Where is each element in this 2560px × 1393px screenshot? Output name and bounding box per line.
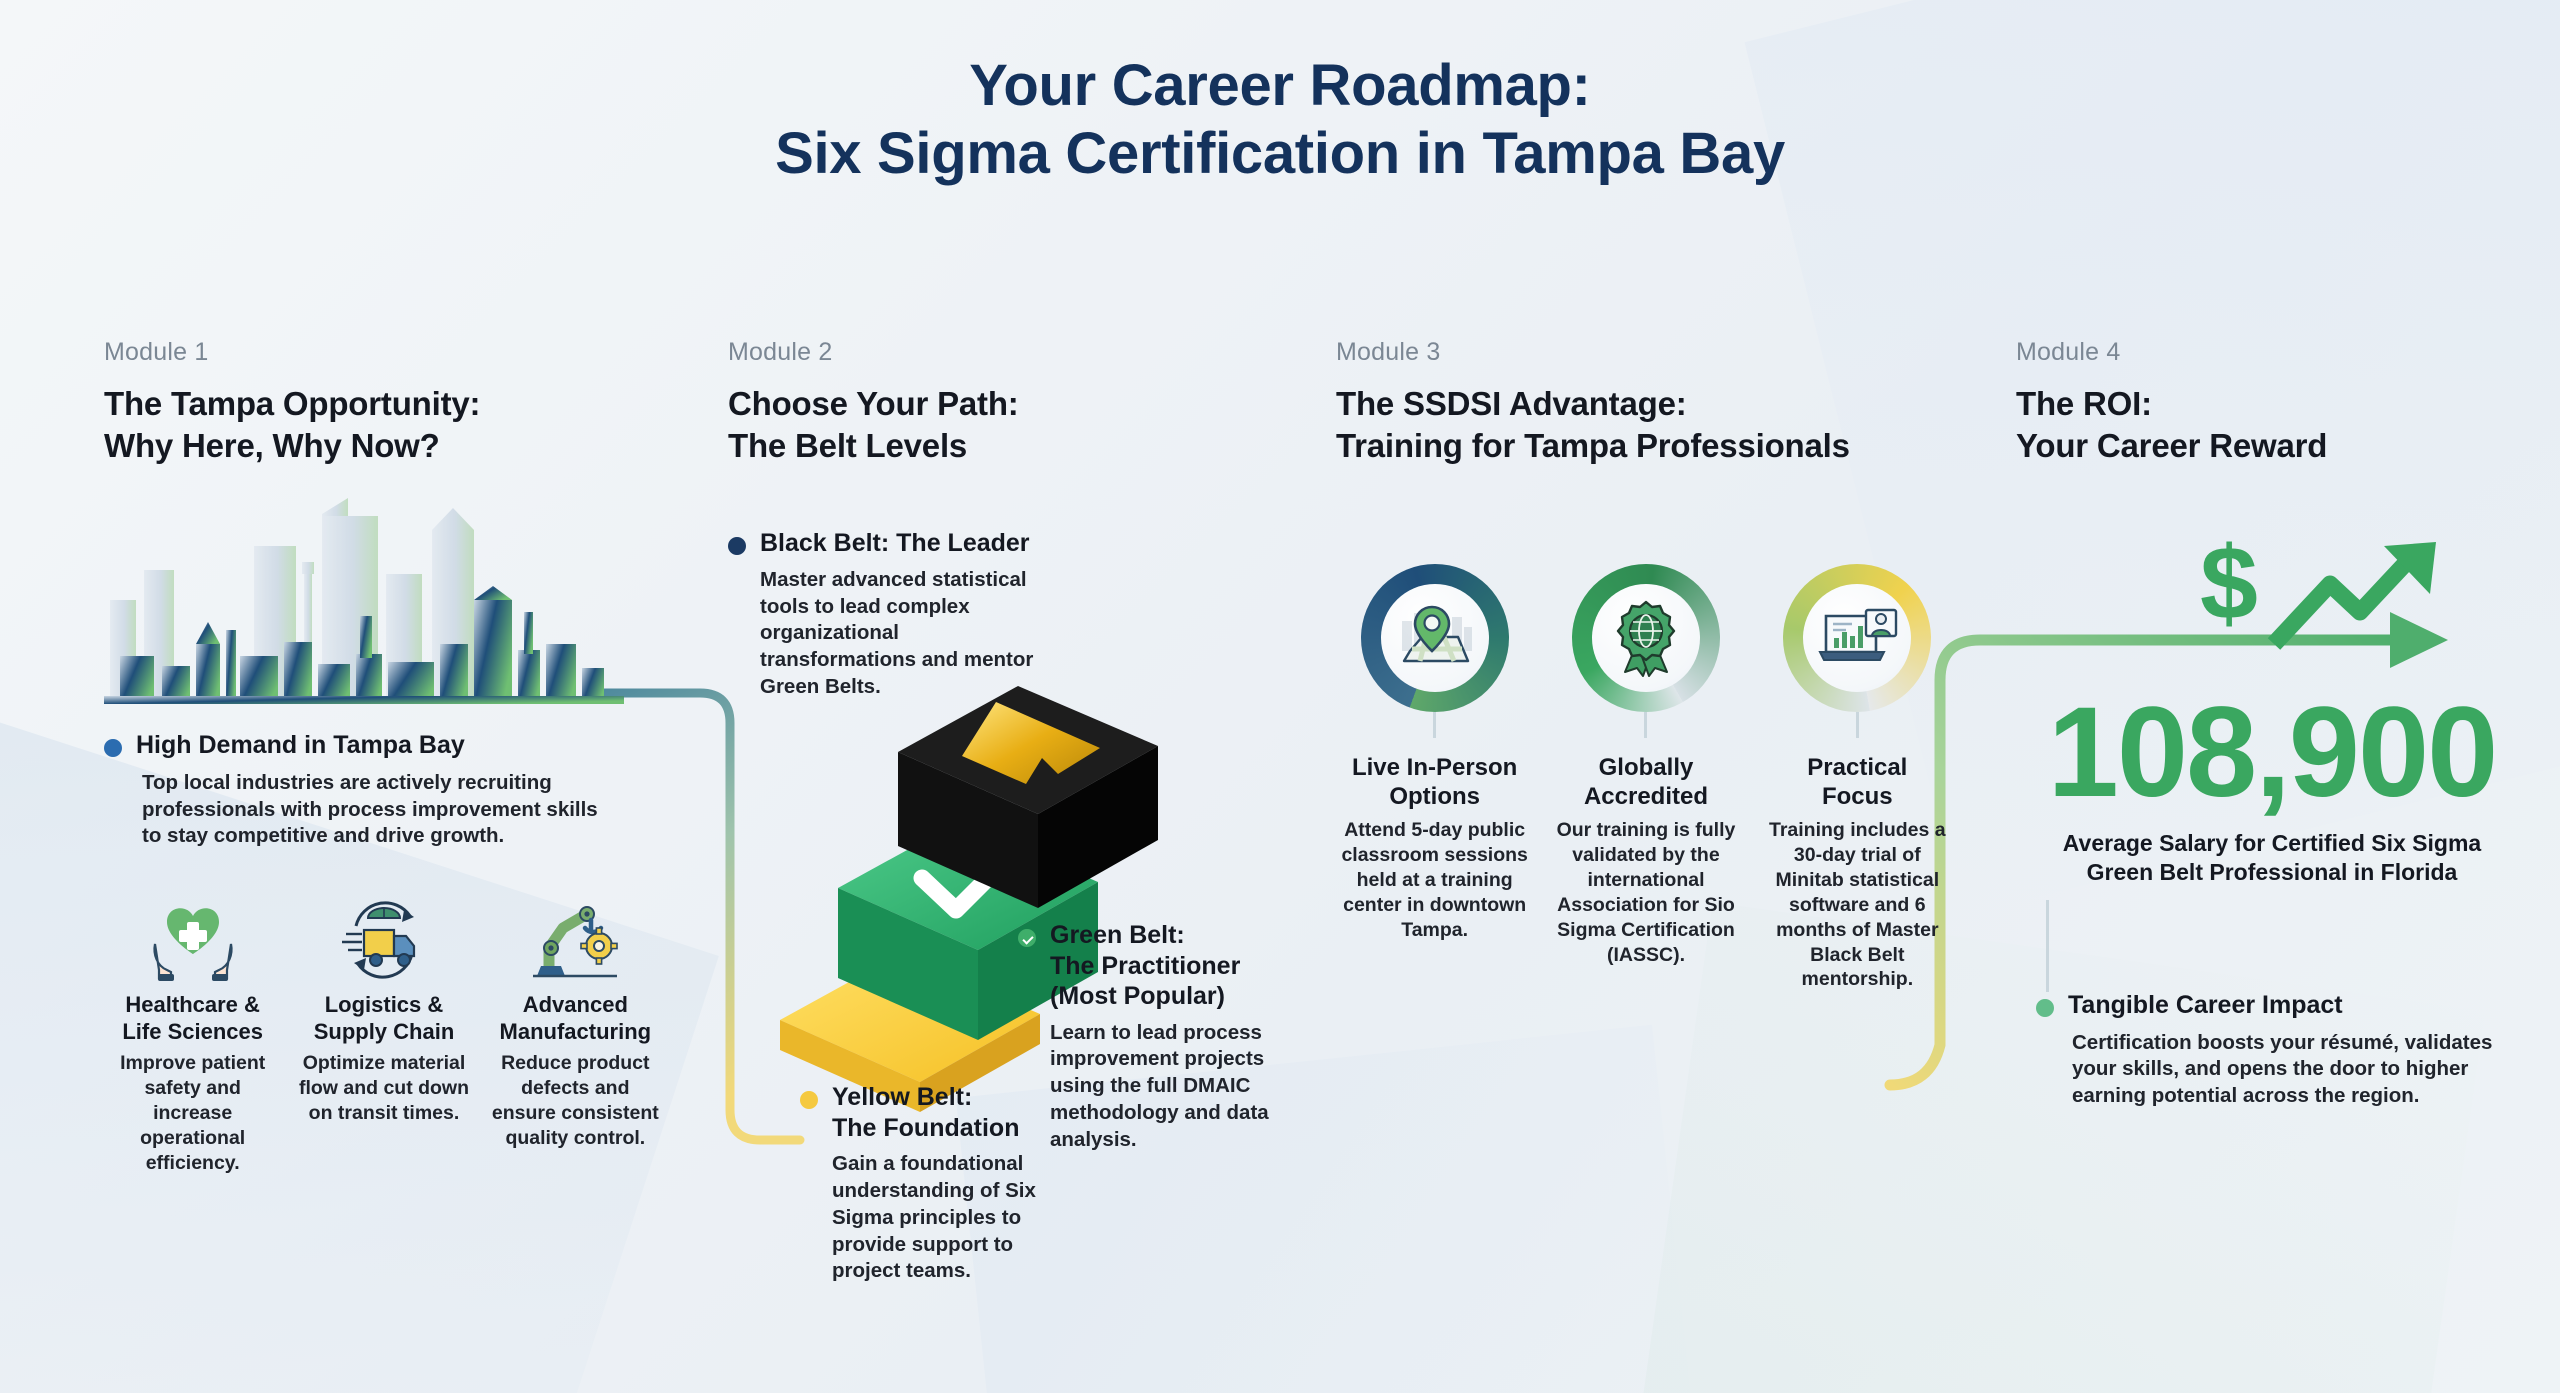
green-belt-heading-line1: Green Belt: [1050, 921, 1185, 949]
feature-heading-line2: Accredited [1584, 783, 1708, 810]
green-belt-heading-line2: The Practitioner [1050, 952, 1240, 980]
module-4-title-line2: Your Career Reward [2016, 425, 2516, 467]
module-4-stem [2046, 900, 2049, 992]
growth-arrow-icon [2268, 540, 2468, 650]
feature-heading: Practical Focus [1759, 754, 1956, 812]
industry-heading-line1: Logistics & [325, 992, 444, 1017]
feature-caption: Practical Focus Training includes a 30-d… [1759, 746, 1956, 992]
module-3-title: The SSDSI Advantage: Training for Tampa … [1336, 383, 1996, 466]
feature-heading-line1: Globally [1599, 754, 1694, 781]
industry-heading-line2: Supply Chain [314, 1019, 455, 1044]
ssdsi-features-rings [1336, 564, 1956, 738]
page-title-line2: Six Sigma Certification in Tampa Bay [0, 120, 2560, 188]
green-belt-heading-line3: (Most Popular) [1050, 982, 1225, 1010]
industry-item: Advanced Manufacturing Reduce product de… [487, 892, 664, 1176]
module-3-column: Module 3 The SSDSI Advantage: Training f… [1336, 338, 1996, 992]
feature-ring-item [1547, 564, 1744, 738]
industry-heading: Advanced Manufacturing [487, 992, 664, 1045]
feature-caption: Live In-Person Options Attend 5-day publ… [1336, 746, 1533, 992]
feature-body: Our training is fully validated by the i… [1547, 818, 1744, 968]
industries-group: Healthcare & Life Sciences Improve patie… [104, 892, 664, 1176]
yellow-belt-body: Gain a foundational understanding of Six… [832, 1151, 1070, 1285]
module-1-bullet: High Demand in Tampa Bay Top local indus… [104, 730, 704, 850]
ring-border [1783, 564, 1931, 712]
feature-heading-line1: Practical [1807, 754, 1907, 781]
feature-ring-item [1759, 564, 1956, 738]
yellow-belt-heading-line1: Yellow Belt: [832, 1083, 972, 1111]
feature-heading: Globally Accredited [1547, 754, 1744, 812]
yellow-belt-heading: Yellow Belt: The Foundation [832, 1082, 1070, 1143]
module-1-bullet-heading: High Demand in Tampa Bay [136, 730, 606, 761]
salary-amount: 108,900 [2012, 690, 2532, 815]
industry-heading-line2: Life Sciences [122, 1019, 263, 1044]
map-pin-location-icon [1381, 584, 1489, 692]
yellow-belt-caption: Yellow Belt: The Foundation Gain a found… [800, 1082, 1070, 1285]
check-circle-icon [1018, 929, 1036, 947]
industry-body: Reduce product defects and ensure consis… [487, 1051, 664, 1151]
page-title: Your Career Roadmap: Six Sigma Certifica… [0, 52, 2560, 189]
award-ribbon-globe-icon [1592, 584, 1700, 692]
industry-heading-line1: Healthcare & [125, 992, 260, 1017]
bullet-dot-icon [104, 739, 122, 757]
page-title-line1: Your Career Roadmap: [969, 53, 1590, 118]
ssdsi-features-captions: Live In-Person Options Attend 5-day publ… [1336, 746, 1956, 992]
module-4-bullet-body: Certification boosts your résumé, valida… [2072, 1030, 2506, 1111]
module-2-title-line2: The Belt Levels [728, 425, 1348, 467]
module-1-title-line1: The Tampa Opportunity: [104, 385, 480, 422]
ring-stem [1856, 712, 1859, 738]
module-4-title-line1: The ROI: [2016, 385, 2152, 422]
bullet-dot-icon [728, 537, 746, 555]
module-1-bullet-body: Top local industries are actively recrui… [142, 770, 606, 851]
module-3-label: Module 3 [1336, 338, 1996, 367]
industry-heading: Healthcare & Life Sciences [104, 992, 281, 1045]
feature-heading-line2: Focus [1822, 783, 1893, 810]
industry-heading-line1: Advanced [523, 992, 628, 1017]
module-4-column: Module 4 The ROI: Your Career Reward [2016, 338, 2516, 466]
ring-stem [1433, 712, 1436, 738]
green-belt-heading: Green Belt: The Practitioner (Most Popul… [1050, 920, 1298, 1012]
dollar-symbol: $ [2200, 540, 2258, 628]
laptop-chart-instructor-icon [1803, 584, 1911, 692]
module-4-label: Module 4 [2016, 338, 2516, 367]
industry-heading-line2: Manufacturing [500, 1019, 652, 1044]
black-belt-heading: Black Belt: The Leader [760, 528, 1048, 559]
tampa-skyline-illustration [104, 504, 704, 704]
industry-body: Optimize material flow and cut down on t… [295, 1051, 472, 1126]
feature-body: Training includes a 30-day trial of Mini… [1759, 818, 1956, 993]
module-3-title-line1: The SSDSI Advantage: [1336, 385, 1687, 422]
salary-caption: Average Salary for Certified Six Sigma G… [2012, 829, 2532, 887]
module-2-label: Module 2 [728, 338, 1348, 367]
bullet-dot-icon [2036, 999, 2054, 1017]
dollar-growth-arrow-icon: $ [2200, 540, 2468, 650]
heart-hands-medical-icon [104, 892, 281, 984]
industry-body: Improve patient safety and increase oper… [104, 1051, 281, 1176]
module-1-label: Module 1 [104, 338, 704, 367]
yellow-belt-heading-line2: The Foundation [832, 1114, 1019, 1142]
module-2-title-line1: Choose Your Path: [728, 385, 1019, 422]
ring-stem [1644, 712, 1647, 738]
module-1-title-line2: Why Here, Why Now? [104, 425, 704, 467]
salary-block: 108,900 Average Salary for Certified Six… [2012, 690, 2532, 887]
industry-item: Logistics & Supply Chain Optimize materi… [295, 892, 472, 1176]
feature-heading-line2: Options [1389, 783, 1480, 810]
module-4-bullet-heading: Tangible Career Impact [2068, 990, 2506, 1021]
feature-caption: Globally Accredited Our training is full… [1547, 746, 1744, 992]
module-1-title: The Tampa Opportunity: Why Here, Why Now… [104, 383, 704, 466]
feature-heading: Live In-Person Options [1336, 754, 1533, 812]
feature-heading-line1: Live In-Person [1352, 754, 1517, 781]
ring-border [1572, 564, 1720, 712]
ring-border [1361, 564, 1509, 712]
module-1-column: Module 1 The Tampa Opportunity: Why Here… [104, 338, 704, 1176]
module-2-title: Choose Your Path: The Belt Levels [728, 383, 1348, 466]
industry-heading: Logistics & Supply Chain [295, 992, 472, 1045]
infographic-canvas: Your Career Roadmap: Six Sigma Certifica… [0, 0, 2560, 1393]
bullet-dot-icon [800, 1091, 818, 1109]
robot-arm-gear-icon [487, 892, 664, 984]
industry-item: Healthcare & Life Sciences Improve patie… [104, 892, 281, 1176]
module-4-bullet: Tangible Career Impact Certification boo… [2036, 990, 2506, 1110]
salary-caption-line2: Green Belt Professional in Florida [2012, 858, 2532, 887]
feature-ring-item [1336, 564, 1533, 738]
green-belt-body: Learn to lead process improvement projec… [1050, 1020, 1298, 1154]
module-4-title: The ROI: Your Career Reward [2016, 383, 2516, 466]
module-3-title-line2: Training for Tampa Professionals [1336, 425, 1996, 467]
salary-caption-line1: Average Salary for Certified Six Sigma [2063, 830, 2481, 856]
delivery-truck-globe-icon [295, 892, 472, 984]
feature-body: Attend 5-day public classroom sessions h… [1336, 818, 1533, 943]
